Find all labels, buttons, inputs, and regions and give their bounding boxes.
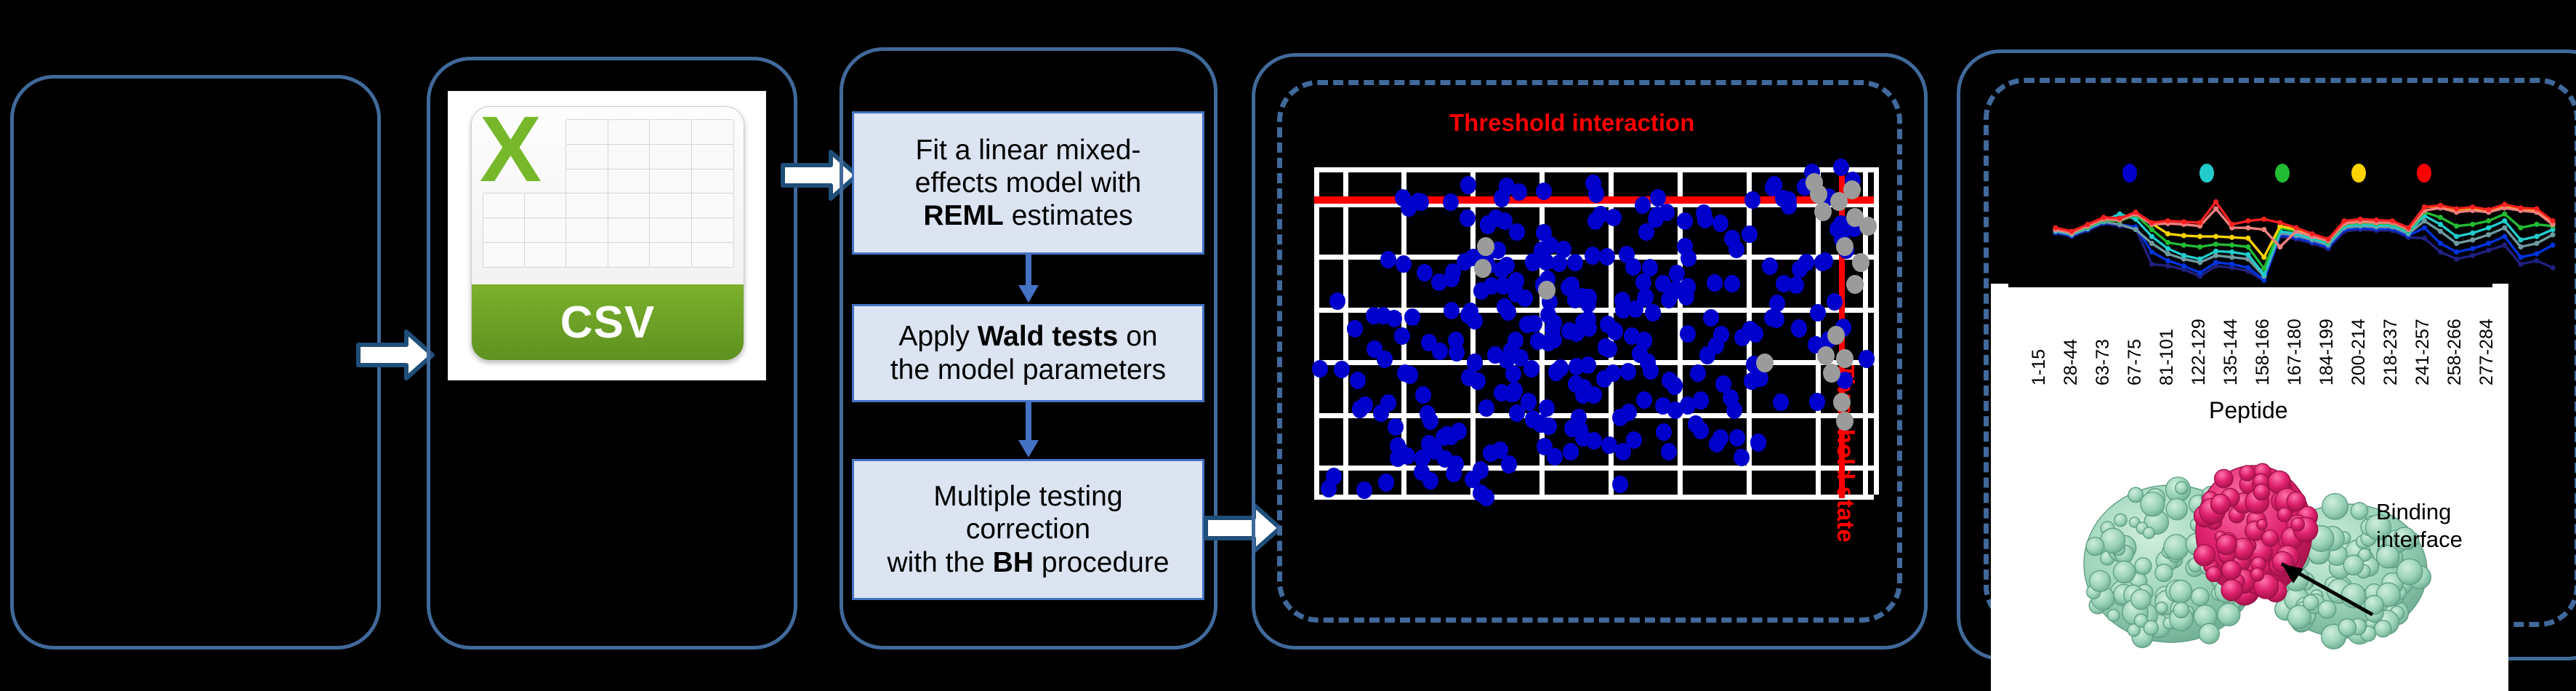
protein-blob bbox=[2221, 580, 2242, 601]
csv-icon-label: CSV bbox=[560, 297, 655, 348]
csv-grid-cell bbox=[608, 217, 651, 244]
scatter-point bbox=[1474, 259, 1492, 278]
scatter-point bbox=[1449, 343, 1465, 361]
scatter-point bbox=[1329, 292, 1345, 310]
chart-marker bbox=[2470, 204, 2475, 209]
scatter-point bbox=[1539, 399, 1555, 417]
scatter-point bbox=[1460, 306, 1476, 324]
protein-blob bbox=[2396, 559, 2422, 584]
chart-marker bbox=[2486, 248, 2491, 253]
legend-dot-series-1 bbox=[2122, 164, 2137, 183]
scatter-point bbox=[1575, 386, 1591, 403]
protein-blob bbox=[2257, 519, 2267, 530]
scatter-point bbox=[1833, 159, 1849, 176]
scatter-point bbox=[1615, 443, 1631, 460]
scatter-point bbox=[1495, 277, 1511, 295]
chart-marker bbox=[2518, 244, 2523, 249]
chart-marker bbox=[2261, 227, 2266, 232]
chart-marker bbox=[2117, 216, 2122, 221]
chart-marker bbox=[2261, 255, 2266, 260]
scatter-point bbox=[1690, 364, 1706, 382]
chart-marker bbox=[2229, 255, 2234, 260]
scatter-point bbox=[1836, 349, 1853, 368]
csv-icon-x-letter: X bbox=[480, 112, 539, 188]
step-wald-tests-box[interactable]: Apply Wald tests on the model parameters bbox=[852, 304, 1204, 402]
protein-blob bbox=[2253, 484, 2269, 500]
protein-blob bbox=[2144, 620, 2158, 635]
scatter-point bbox=[1312, 360, 1328, 378]
scatter-point bbox=[1525, 410, 1541, 428]
peptide-tick-label: 218-237 bbox=[2380, 319, 2402, 386]
scatter-point bbox=[1500, 303, 1516, 321]
csv-grid-cell bbox=[608, 169, 651, 195]
protein-blob bbox=[2338, 619, 2356, 636]
scatter-point bbox=[1599, 248, 1615, 265]
csv-grid-cell bbox=[649, 242, 692, 268]
peptide-tick-label: 28-44 bbox=[2061, 339, 2082, 386]
chart-marker bbox=[2406, 225, 2411, 231]
peptide-tick-labels: 1-1528-4463-7367-7581-101122-129135-1441… bbox=[1991, 284, 2508, 393]
scatter-point bbox=[1726, 402, 1742, 419]
chart-marker bbox=[2213, 249, 2218, 254]
scatter-point bbox=[1567, 254, 1583, 271]
peptide-tick-label: 1-15 bbox=[2029, 349, 2050, 386]
protein-blob bbox=[2086, 538, 2104, 556]
peptide-tick-label: 167-180 bbox=[2285, 319, 2306, 386]
scatter-point bbox=[1437, 450, 1453, 468]
protein-blob bbox=[2262, 530, 2279, 547]
scatter-point bbox=[1852, 253, 1869, 272]
chart-line-slate bbox=[2056, 221, 2553, 276]
chart-marker bbox=[2534, 222, 2539, 227]
chart-marker bbox=[2181, 242, 2186, 247]
protein-blob bbox=[2114, 561, 2136, 583]
chart-marker bbox=[2277, 244, 2282, 249]
csv-grid-cell bbox=[608, 119, 651, 145]
chart-marker bbox=[2422, 236, 2427, 241]
peptide-line-chart bbox=[2021, 188, 2559, 286]
scatter-point bbox=[1756, 354, 1774, 372]
x-axis-label: Peptide bbox=[2209, 397, 2288, 424]
scatter-point bbox=[1693, 422, 1709, 439]
protein-blob bbox=[2166, 499, 2187, 520]
protein-blob bbox=[2303, 595, 2319, 610]
connector-arrow-2 bbox=[1014, 402, 1043, 459]
scatter-point bbox=[1836, 412, 1853, 431]
chart-marker bbox=[2454, 206, 2459, 211]
line-2: the model parameters bbox=[890, 354, 1166, 386]
scatter-point bbox=[1846, 275, 1864, 294]
scatter-point bbox=[1744, 372, 1760, 390]
scatter-point bbox=[1744, 191, 1760, 209]
csv-grid-cell bbox=[691, 144, 734, 170]
scatter-point bbox=[1624, 327, 1640, 345]
csv-grid-cell bbox=[483, 242, 526, 268]
protein-blob bbox=[2287, 492, 2306, 511]
scatter-point bbox=[1707, 274, 1723, 292]
protein-blob bbox=[2194, 545, 2215, 566]
chart-marker bbox=[2149, 220, 2154, 225]
line-1: Apply bbox=[898, 321, 977, 352]
chart-marker bbox=[2534, 234, 2539, 239]
scatter-point bbox=[1422, 472, 1438, 490]
chart-marker bbox=[2486, 218, 2491, 223]
protein-blob bbox=[2107, 610, 2120, 622]
scatter-points bbox=[1314, 167, 1874, 495]
chart-marker bbox=[2165, 251, 2170, 256]
protein-blob bbox=[2215, 469, 2233, 487]
panel-1 bbox=[10, 75, 381, 650]
chart-marker bbox=[2502, 218, 2507, 223]
step-wald-tests-text: Apply Wald tests on the model parameters bbox=[890, 320, 1166, 386]
chart-marker bbox=[2069, 228, 2074, 233]
chart-marker bbox=[2550, 242, 2555, 247]
protein-blob bbox=[2156, 602, 2168, 614]
chart-marker bbox=[2197, 220, 2202, 225]
protein-blob bbox=[2090, 571, 2111, 592]
scatter-point bbox=[1386, 310, 1402, 327]
scatter-point bbox=[1380, 394, 1396, 412]
chart-marker bbox=[2181, 253, 2186, 258]
scatter-point bbox=[1661, 443, 1677, 460]
scatter-point bbox=[1645, 304, 1661, 321]
protein-blob bbox=[2277, 508, 2292, 522]
scatter-point bbox=[1460, 209, 1476, 227]
chart-marker bbox=[2213, 234, 2218, 239]
legend-dot-series-2 bbox=[2199, 164, 2214, 183]
protein-blob bbox=[2351, 503, 2367, 519]
scatter-point bbox=[1380, 251, 1396, 268]
scatter-point bbox=[1830, 192, 1848, 211]
chart-marker bbox=[2518, 225, 2523, 231]
scatter-point bbox=[1724, 230, 1740, 247]
csv-grid-cell bbox=[649, 217, 692, 244]
scatter-point bbox=[1635, 196, 1651, 214]
chart-marker bbox=[2438, 222, 2443, 227]
line-2: correction bbox=[966, 514, 1090, 545]
chart-marker bbox=[2197, 244, 2202, 249]
peptide-tick-label: 158-166 bbox=[2253, 319, 2274, 386]
scatter-point bbox=[1585, 247, 1601, 264]
scatter-point bbox=[1667, 402, 1683, 419]
annot-line-1: Binding bbox=[2376, 498, 2463, 526]
chart-marker bbox=[2245, 244, 2250, 249]
csv-grid-cell bbox=[565, 217, 608, 244]
protein-blob bbox=[2291, 518, 2305, 532]
chart-marker bbox=[2213, 260, 2218, 265]
chart-marker bbox=[2550, 265, 2555, 270]
scatter-point bbox=[1677, 212, 1693, 230]
scatter-point bbox=[1492, 442, 1508, 459]
csv-grid-cell bbox=[608, 193, 651, 219]
scatter-point bbox=[1605, 364, 1621, 382]
peptide-tick-label: 200-214 bbox=[2348, 319, 2370, 386]
csv-grid-cell bbox=[649, 144, 692, 170]
scatter-point bbox=[1473, 282, 1489, 300]
protein-blob bbox=[2375, 620, 2391, 637]
scatter-point bbox=[1432, 343, 1448, 360]
step-bh-correction-box[interactable]: Multiple testing correction with the BH … bbox=[852, 459, 1204, 600]
peptide-tick-label: 63-73 bbox=[2093, 339, 2114, 386]
legend-dot-series-3 bbox=[2275, 164, 2290, 183]
peptide-tick-label: 277-284 bbox=[2476, 319, 2497, 386]
legend-dot-series-4 bbox=[2351, 164, 2366, 183]
chart-marker bbox=[2502, 202, 2507, 207]
chart-marker bbox=[2229, 235, 2234, 240]
protein-blob bbox=[2173, 602, 2189, 618]
protein-blob bbox=[2170, 580, 2192, 603]
csv-grid-cell bbox=[691, 169, 734, 195]
chart-marker bbox=[2165, 240, 2170, 245]
protein-blob bbox=[2135, 558, 2152, 575]
scatter-point bbox=[1833, 393, 1851, 412]
chart-marker bbox=[2438, 203, 2443, 208]
scatter-point bbox=[1422, 412, 1438, 430]
chart-marker bbox=[2454, 223, 2459, 228]
scatter-point bbox=[1693, 391, 1709, 409]
line-3-strong: BH bbox=[993, 547, 1034, 578]
scatter-point bbox=[1696, 204, 1712, 222]
chart-marker bbox=[2245, 265, 2250, 270]
scatter-point bbox=[1781, 191, 1797, 209]
scatter-point bbox=[1636, 391, 1652, 409]
scatter-point bbox=[1517, 289, 1533, 307]
scatter-point bbox=[1509, 223, 1525, 241]
chart-marker bbox=[2165, 231, 2170, 236]
scatter-point bbox=[1505, 365, 1521, 383]
scatter-point bbox=[1536, 183, 1552, 200]
scatter-point bbox=[1656, 423, 1672, 441]
scatter-point bbox=[1366, 307, 1382, 324]
scatter-point bbox=[1394, 327, 1410, 345]
scatter-point bbox=[1619, 246, 1635, 263]
chart-marker bbox=[2326, 236, 2331, 241]
scatter-point bbox=[1601, 340, 1617, 358]
chart-marker bbox=[2534, 206, 2539, 211]
chart-marker bbox=[2502, 212, 2507, 217]
csv-grid-cell bbox=[649, 119, 692, 145]
scatter-point bbox=[1553, 359, 1569, 377]
protein-blob bbox=[2322, 494, 2348, 520]
scatter-point bbox=[1444, 302, 1460, 319]
scatter-point bbox=[1809, 393, 1825, 410]
scatter-point bbox=[1397, 364, 1413, 382]
chart-marker bbox=[2502, 225, 2507, 231]
line-3-suffix: procedure bbox=[1034, 547, 1169, 578]
chart-marker bbox=[2454, 257, 2459, 262]
scatter-point bbox=[1473, 461, 1489, 479]
scatter-point bbox=[1511, 183, 1527, 201]
scatter-point bbox=[1537, 438, 1553, 455]
csv-grid-cell bbox=[649, 169, 692, 195]
chart-marker bbox=[2534, 251, 2539, 256]
scatter-gridline-h bbox=[1314, 495, 1874, 500]
scatter-point bbox=[1734, 449, 1750, 466]
csv-grid-cell bbox=[565, 119, 608, 145]
chart-marker bbox=[2518, 237, 2523, 242]
scatter-point bbox=[1460, 176, 1476, 193]
scatter-point bbox=[1401, 199, 1417, 217]
flow-arrow-1 bbox=[355, 329, 435, 381]
scatter-point bbox=[1587, 212, 1603, 230]
annot-line-2: interface bbox=[2376, 526, 2463, 554]
chart-marker bbox=[2101, 215, 2106, 220]
chart-marker bbox=[2149, 249, 2154, 255]
chart-marker bbox=[2502, 234, 2507, 239]
chart-marker bbox=[2181, 233, 2186, 238]
csv-grid-cell bbox=[691, 119, 734, 145]
chart-marker bbox=[2438, 241, 2443, 246]
scatter-point bbox=[1347, 320, 1363, 337]
scatter-point bbox=[1580, 295, 1596, 313]
scatter-point bbox=[1443, 428, 1459, 445]
chart-marker bbox=[2213, 206, 2218, 211]
scatter-point bbox=[1519, 316, 1535, 333]
chart-marker bbox=[2470, 231, 2475, 236]
scatter-point bbox=[1788, 276, 1804, 294]
threshold-interaction-label: Threshold interaction bbox=[1449, 109, 1694, 137]
line-1-suffix: on bbox=[1118, 321, 1157, 352]
chart-marker bbox=[2438, 215, 2443, 220]
peptide-tick-label: 81-101 bbox=[2157, 329, 2178, 386]
scatter-point bbox=[1655, 275, 1671, 292]
scatter-point bbox=[1817, 346, 1835, 365]
scatter-point bbox=[1791, 320, 1807, 337]
scatter-point bbox=[1773, 394, 1789, 411]
scatter-point bbox=[1742, 225, 1758, 243]
chart-marker bbox=[2133, 227, 2138, 232]
scatter-point bbox=[1827, 326, 1845, 345]
chart-marker bbox=[2454, 249, 2459, 255]
chart-marker bbox=[2165, 246, 2170, 251]
chart-marker bbox=[2245, 218, 2250, 223]
chart-marker bbox=[2053, 225, 2058, 231]
chart-marker bbox=[2534, 258, 2539, 263]
scatter-point bbox=[1585, 175, 1601, 192]
chart-marker bbox=[2470, 246, 2475, 251]
peptide-tick-label: 184-199 bbox=[2317, 319, 2338, 386]
scatter-point bbox=[1321, 480, 1337, 498]
scatter-point bbox=[1798, 254, 1814, 271]
scatter-point bbox=[1509, 404, 1525, 422]
line-3-strong: REML bbox=[923, 200, 1004, 231]
csv-grid-cell bbox=[691, 217, 734, 244]
scatter-point bbox=[1580, 356, 1596, 374]
scatter-gridline-v bbox=[1874, 167, 1879, 495]
chart-marker bbox=[2486, 225, 2491, 231]
scatter-point bbox=[1404, 308, 1420, 326]
scatter-point bbox=[1680, 325, 1696, 343]
chart-marker bbox=[2197, 234, 2202, 239]
protein-blob bbox=[2199, 623, 2220, 644]
scatter-point bbox=[1708, 337, 1724, 354]
protein-blob bbox=[2175, 482, 2188, 494]
line-3-suffix: estimates bbox=[1004, 200, 1133, 231]
csv-icon-label-bar: CSV bbox=[472, 284, 744, 361]
scatter-point bbox=[1501, 455, 1517, 473]
scatter-point bbox=[1769, 295, 1785, 312]
scatter-point bbox=[1680, 278, 1696, 295]
scatter-point bbox=[1659, 204, 1675, 221]
scatter-point bbox=[1499, 257, 1515, 274]
peptide-tick-label: 67-75 bbox=[2125, 339, 2146, 386]
scatter-point bbox=[1545, 320, 1561, 337]
scatter-point bbox=[1762, 257, 1778, 275]
chart-marker bbox=[2133, 209, 2138, 215]
chart-marker bbox=[2213, 241, 2218, 247]
csv-grid-cell bbox=[565, 169, 608, 195]
chart-marker bbox=[2245, 252, 2250, 257]
csv-grid-cell bbox=[608, 242, 651, 268]
scatter-point bbox=[1814, 202, 1832, 221]
scatter-point bbox=[1712, 215, 1728, 232]
chart-marker bbox=[2229, 249, 2234, 255]
scatter-point bbox=[1334, 361, 1350, 378]
csv-grid-cell bbox=[524, 217, 567, 244]
chart-marker bbox=[2422, 204, 2427, 209]
scatter-point bbox=[1729, 429, 1745, 447]
protein-blob bbox=[2210, 495, 2230, 514]
scatter-point bbox=[1388, 418, 1404, 436]
chart-marker bbox=[2518, 205, 2523, 210]
scatter-point bbox=[1415, 386, 1431, 404]
csv-grid-cell bbox=[691, 242, 734, 268]
peptide-chart-white-card: 0.01 1-1528-4463-7367-7581-101122-129135… bbox=[1991, 284, 2508, 691]
connector-arrow-1 bbox=[1014, 255, 1043, 304]
scatter-point bbox=[1827, 293, 1843, 311]
chart-marker bbox=[2165, 263, 2170, 268]
chart-marker bbox=[2342, 218, 2347, 223]
chart-marker bbox=[2454, 241, 2459, 246]
chart-marker bbox=[2229, 242, 2234, 247]
chart-marker bbox=[2518, 262, 2523, 267]
protein-blob bbox=[2251, 568, 2264, 581]
chart-marker bbox=[2229, 222, 2234, 227]
csv-grid-cell bbox=[483, 217, 526, 244]
chart-marker bbox=[2261, 266, 2266, 271]
csv-grid-cell bbox=[524, 242, 567, 268]
step-fit-model-box[interactable]: Fit a linear mixed- effects model with R… bbox=[852, 111, 1204, 255]
scatter-point bbox=[1356, 482, 1372, 499]
scatter-point bbox=[1607, 322, 1623, 340]
chart-marker bbox=[2470, 253, 2475, 258]
chart-marker bbox=[2149, 241, 2154, 246]
chart-marker bbox=[2422, 225, 2427, 231]
protein-blob bbox=[2191, 588, 2210, 606]
line-3: with the bbox=[887, 547, 992, 578]
scatter-point bbox=[1677, 238, 1693, 255]
csv-grid-cell bbox=[565, 144, 608, 170]
csv-file-icon[interactable]: X CSV bbox=[448, 92, 765, 380]
chart-marker bbox=[2454, 234, 2459, 239]
csv-grid-cell bbox=[691, 193, 734, 219]
peptide-tick-label: 122-129 bbox=[2189, 319, 2210, 386]
chart-marker bbox=[2486, 241, 2491, 246]
csv-grid-cell bbox=[565, 242, 608, 268]
chart-marker bbox=[2438, 228, 2443, 233]
chart-marker bbox=[2261, 272, 2266, 277]
scatter-point bbox=[1367, 340, 1382, 358]
scatter-point bbox=[1612, 409, 1628, 426]
chart-marker bbox=[2245, 225, 2250, 231]
peptide-tick-label: 258-266 bbox=[2444, 319, 2466, 386]
scatter-point bbox=[1494, 189, 1510, 207]
chart-marker bbox=[2470, 237, 2475, 242]
scatter-point bbox=[1712, 429, 1728, 447]
scatter-point bbox=[1352, 400, 1368, 418]
chart-marker bbox=[2358, 217, 2363, 222]
protein-blob bbox=[2114, 514, 2127, 526]
